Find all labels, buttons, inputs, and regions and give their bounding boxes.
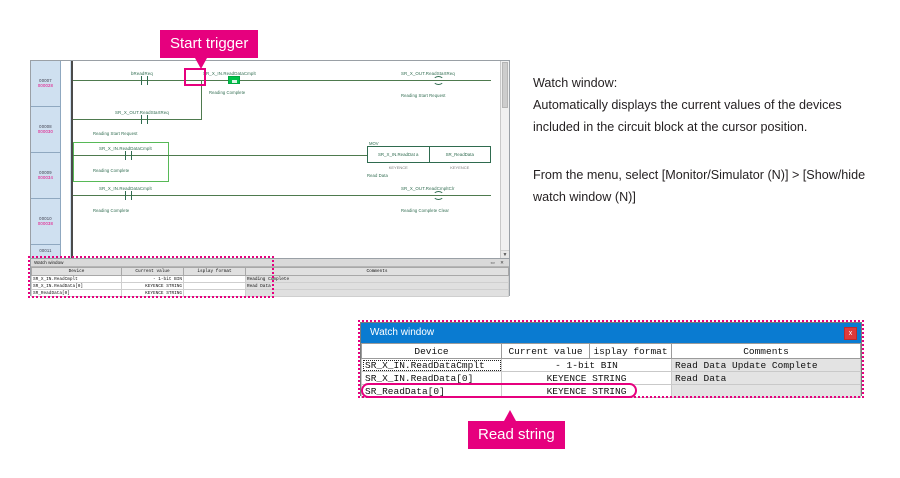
instruction-name: MOV (369, 141, 379, 146)
rung-number-row: 00011 (31, 245, 60, 259)
cursor-highlight-cell[interactable] (228, 76, 240, 84)
rung-number-row: 00008 000030 (31, 107, 60, 153)
description-panel: Watch window: Automatically displays the… (533, 72, 883, 208)
cell-comment: Reading Complete (246, 276, 509, 283)
rung-step: 000038 (38, 222, 53, 226)
col-header-display-format[interactable]: isplay format (184, 268, 246, 276)
rung-number-row: 00010 000038 (31, 199, 60, 245)
cell-value: KEYENCE STRING (502, 385, 672, 398)
description-line-3: From the menu, select [Monitor/Simulator… (533, 164, 883, 186)
table-header-row: Device Current value isplay format Comme… (32, 268, 509, 276)
watch-window-small-titlebar: Watch window ▭ ✕ (31, 259, 509, 267)
table-row[interactable]: SR_ReadData[0] KEYENCE STRING (362, 385, 861, 398)
coil-comment: Reading Start Request (401, 93, 445, 98)
coil-comment-2: Reading Complete Clear (401, 208, 449, 213)
rung-step: 000034 (38, 176, 53, 180)
rung-number: 00011 (39, 249, 51, 253)
cell-value: KEYENCE STRING (502, 372, 672, 385)
cell-format (184, 283, 246, 290)
col-header-device[interactable]: Device (32, 268, 122, 276)
mov-comment: Read Data (367, 173, 388, 178)
col-header-current-value[interactable]: Current value (122, 268, 184, 276)
cell-comment: Read Data (246, 283, 509, 290)
ladder-canvas[interactable]: bReadReq SR_X_IN.ReadDataCmplt Reading C… (71, 61, 509, 259)
watch-window-small-tool-icons[interactable]: ▭ ✕ (491, 259, 506, 267)
ladder-vertical-scrollbar[interactable]: ▼ (500, 61, 509, 259)
cell-device[interactable]: SR_X_IN.ReadData[0] (32, 283, 122, 290)
description-line-4: watch window (N)] (533, 186, 883, 208)
rung2-comment: Reading Start Request (93, 131, 137, 136)
cell-device[interactable]: SR_X_IN.ReadDataCmplt (362, 359, 502, 372)
contact-readdatacmplt-2[interactable] (123, 191, 134, 200)
mov-source-label: SR_X_IN.ReadDat a (378, 152, 419, 157)
col-header-display-format[interactable]: isplay format (590, 344, 672, 359)
cell-value: KEYENCE STRING (122, 283, 184, 290)
rung-number-gutter: 00007 000028 00008 000030 00009 000034 0… (31, 61, 61, 259)
col-header-comments[interactable]: Comments (672, 344, 861, 359)
rung3-comment: Reading Complete (93, 168, 129, 173)
cell-format (184, 276, 246, 283)
callout-read-string: Read string (468, 421, 565, 449)
contact-comment: Reading Complete (209, 90, 245, 95)
callout-tail (195, 58, 207, 69)
ladder-body: 00007 000028 00008 000030 00009 000034 0… (31, 61, 509, 259)
cell-comment: Read Data Update Complete (672, 359, 861, 372)
description-line-2: included in the circuit block at the cur… (533, 116, 883, 138)
mov-dest-value: KEYENCE (450, 165, 469, 170)
watch-window-table: Device Current value isplay format Comme… (361, 343, 861, 398)
rung-wire (73, 195, 491, 196)
rung-number-row: 00007 000028 (31, 61, 60, 107)
col-header-device[interactable]: Device (362, 344, 502, 359)
mov-source-operand[interactable]: SR_X_IN.ReadDat a KEYENCE (368, 147, 430, 162)
rung4-comment: Reading Complete (93, 208, 129, 213)
coil-label-readstartreq: SR_X_OUT.ReadStartReq (401, 71, 455, 76)
cell-value: - 1-bit BIN (122, 276, 184, 283)
watch-window-docked[interactable]: Watch window ▭ ✕ Device Current value is… (30, 258, 510, 296)
ladder-rail-column (61, 61, 71, 259)
col-header-current-value[interactable]: Current value (502, 344, 590, 359)
mov-dest-operand[interactable]: SR_ReadData KEYENCE (430, 147, 491, 162)
mov-source-value: KEYENCE (389, 165, 408, 170)
watch-window-small-title: Watch window (34, 260, 63, 265)
description-heading: Watch window: (533, 72, 883, 94)
callout-start-trigger: Start trigger (160, 30, 258, 58)
cell-comment (672, 385, 861, 398)
coil-readstartreq[interactable] (433, 76, 444, 85)
watch-window-small-table: Device Current value isplay format Comme… (31, 267, 509, 297)
callout-start-trigger-label: Start trigger (170, 35, 248, 52)
cell-comment: Read Data (672, 372, 861, 385)
mov-dest-label: SR_ReadData (446, 152, 474, 157)
contact-readstartreq[interactable] (139, 115, 150, 124)
cell-device[interactable]: SR_X_IN.ReadData[0] (362, 372, 502, 385)
cell-device[interactable]: SR_X_IN.ReadCmplt (32, 276, 122, 283)
cell-value: - 1-bit BIN (502, 359, 672, 372)
watch-window-enlarged[interactable]: Watch window x Device Current value ispl… (360, 322, 862, 396)
callout-read-string-label: Read string (478, 426, 555, 443)
coil-readcmpltclr[interactable] (433, 191, 444, 200)
table-row[interactable]: SR_X_IN.ReadCmplt - 1-bit BIN Reading Co… (32, 276, 509, 283)
rung-wire (73, 80, 491, 81)
rung-wire (73, 119, 201, 120)
cell-value: KEYENCE STRING (122, 290, 184, 297)
table-row[interactable]: SR_X_IN.ReadDataCmplt - 1-bit BIN Read D… (362, 359, 861, 372)
close-icon[interactable]: x (844, 327, 857, 340)
contact-readdatacmplt[interactable] (123, 151, 134, 160)
watch-window-title: Watch window (370, 327, 434, 338)
ladder-editor-window[interactable]: 00007 000028 00008 000030 00009 000034 0… (30, 60, 510, 260)
cell-device[interactable]: SR_ReadData[0] (32, 290, 122, 297)
branch-vertical (201, 80, 202, 120)
scrollbar-thumb[interactable] (502, 62, 508, 108)
rung-step: 000028 (38, 84, 53, 88)
table-header-row: Device Current value isplay format Comme… (362, 344, 861, 359)
cell-format (184, 290, 246, 297)
col-header-comments[interactable]: Comments (246, 268, 509, 276)
mov-instruction-box[interactable]: MOV SR_X_IN.ReadDat a KEYENCE SR_ReadDat… (367, 146, 491, 163)
rung-number-row: 00009 000034 (31, 153, 60, 199)
rung-step: 000030 (38, 130, 53, 134)
table-row[interactable]: SR_X_IN.ReadData[0] KEYENCE STRING Read … (32, 283, 509, 290)
contact-breadreq[interactable] (139, 76, 150, 85)
cell-comment (246, 290, 509, 297)
table-row[interactable]: SR_X_IN.ReadData[0] KEYENCE STRING Read … (362, 372, 861, 385)
watch-window-titlebar: Watch window x (361, 323, 861, 343)
callout-tail (504, 410, 516, 421)
coil-label-readcmpltclr: SR_X_OUT.ReadCmpltClr (401, 186, 455, 191)
table-row[interactable]: SR_ReadData[0] KEYENCE STRING (32, 290, 509, 297)
description-line-1: Automatically displays the current value… (533, 94, 883, 116)
cell-device[interactable]: SR_ReadData[0] (362, 385, 502, 398)
